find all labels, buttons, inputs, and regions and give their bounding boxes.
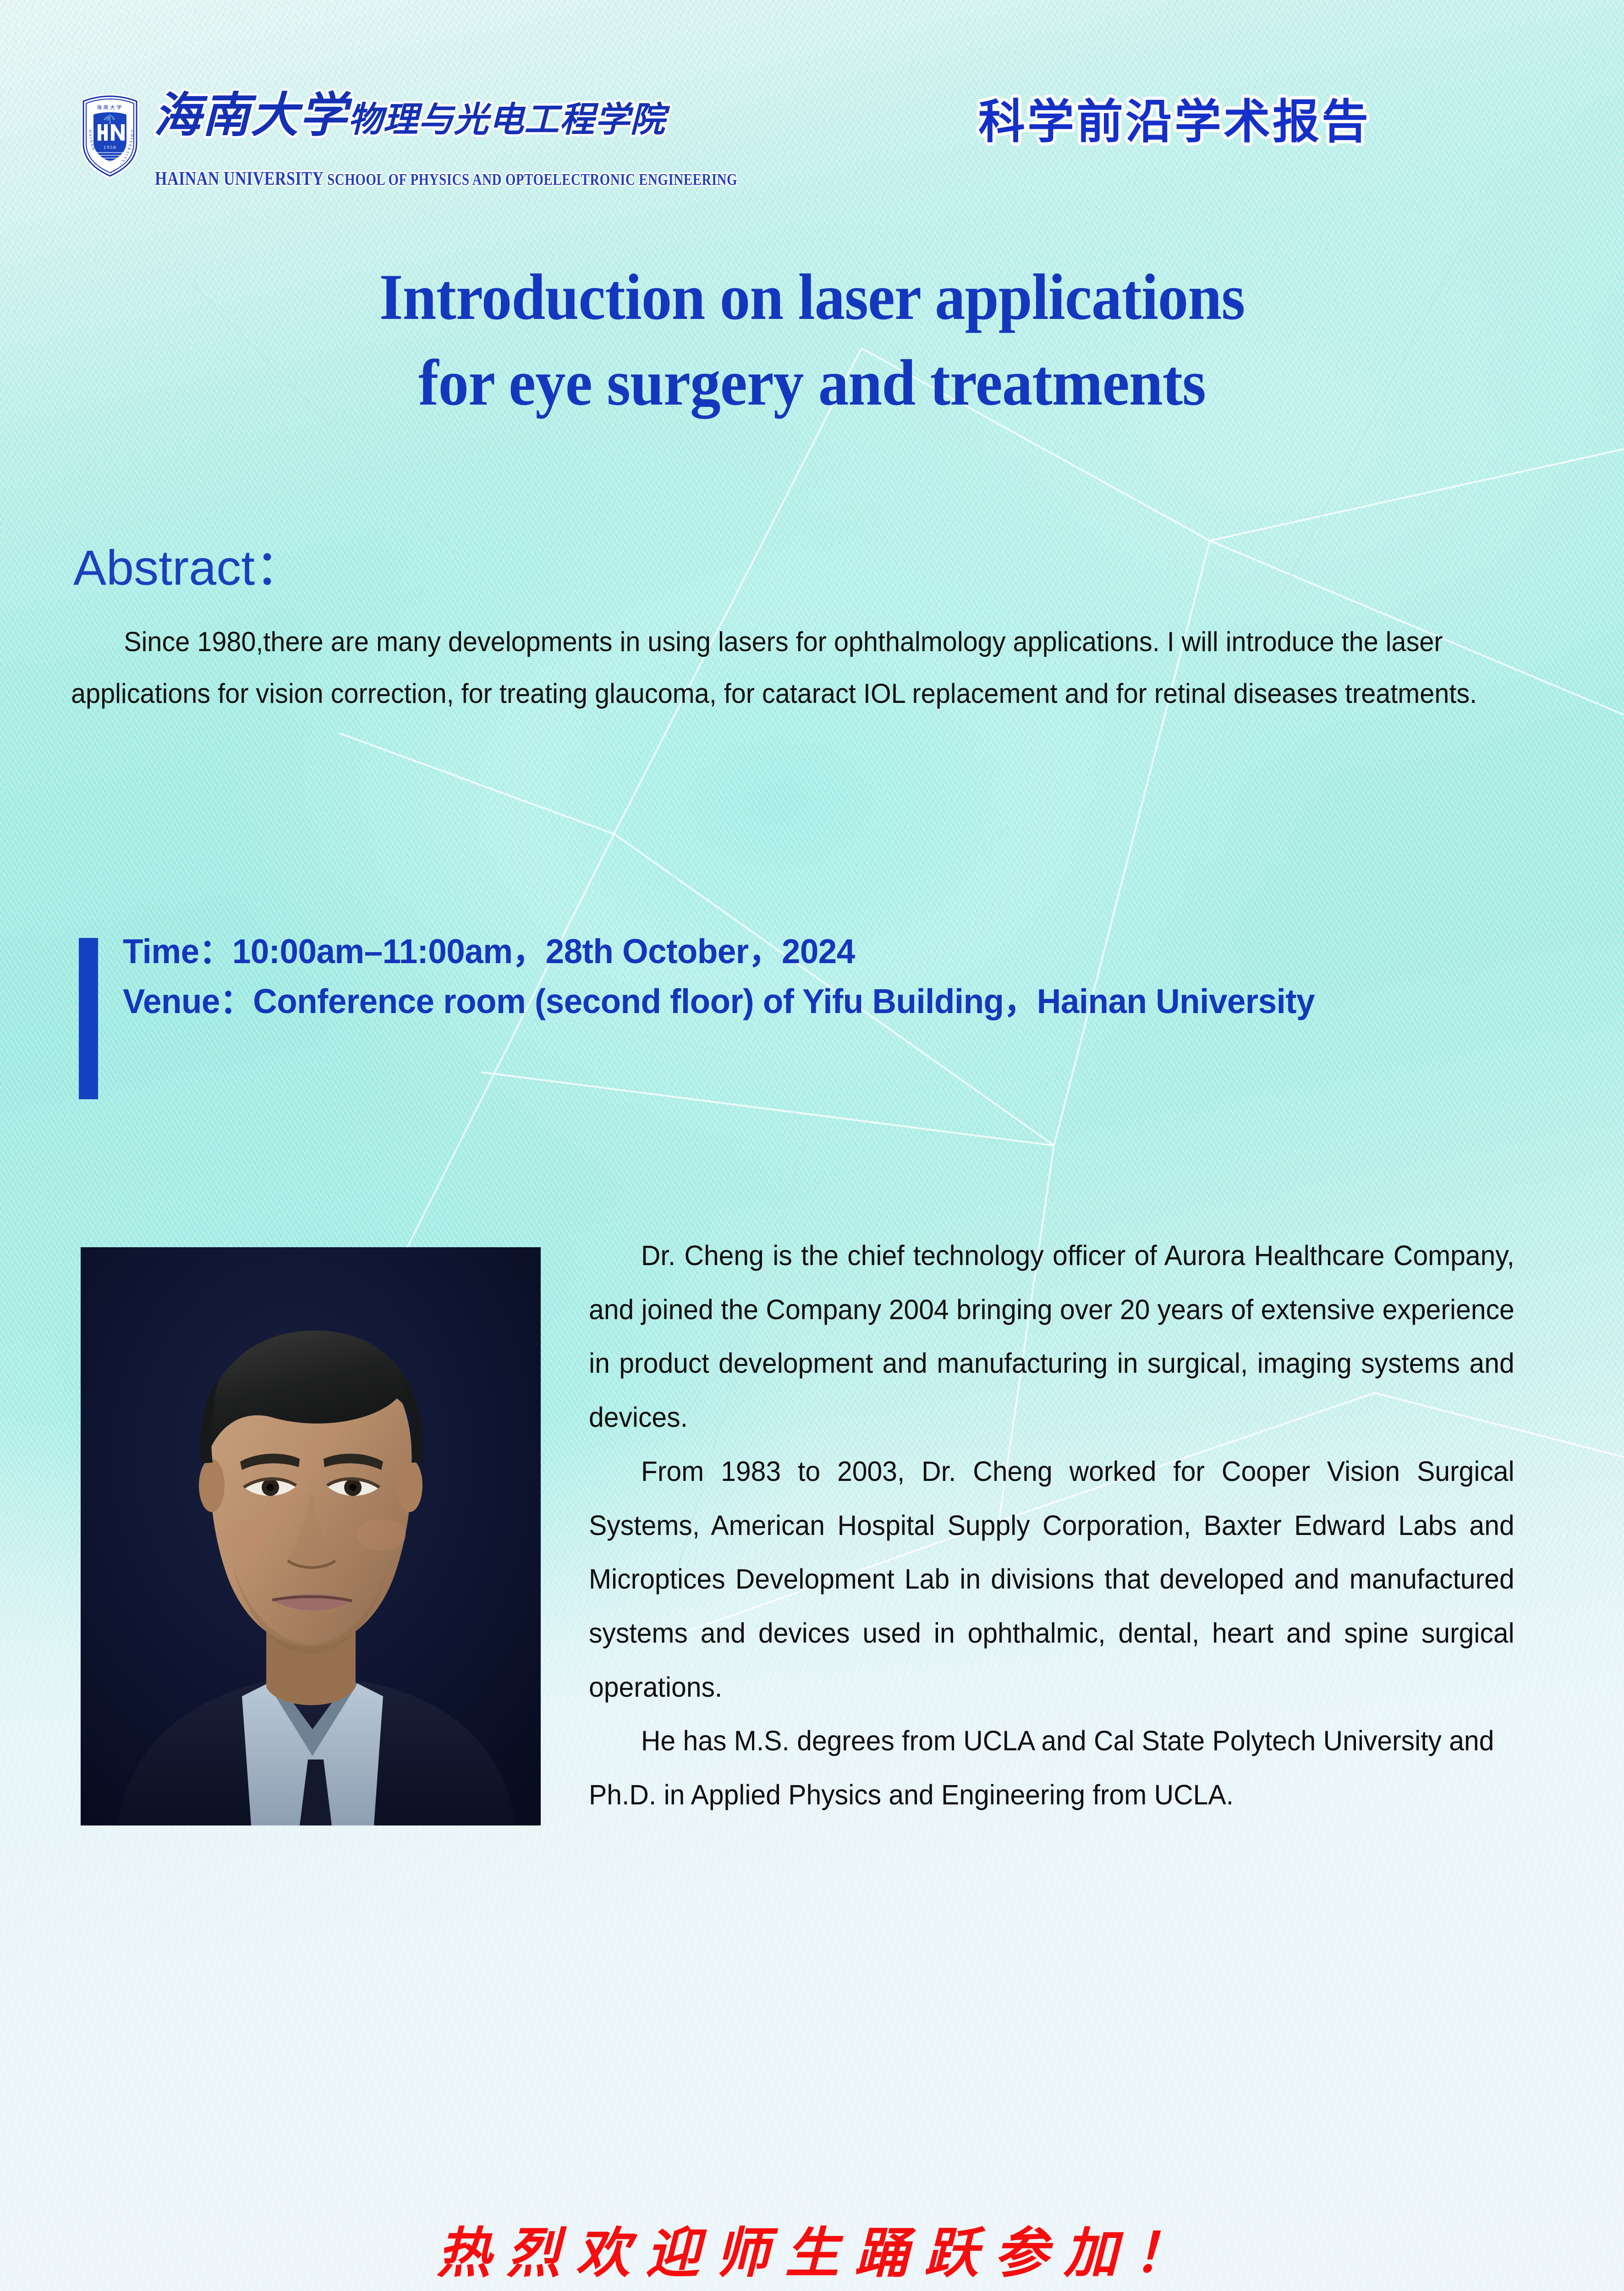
speaker-bio: Dr. Cheng is the chief technology office…	[589, 1229, 1514, 1822]
brand-school-cn: 物理与光电工程学院	[348, 101, 665, 139]
bio-paragraph-text: Dr. Cheng is the chief technology office…	[589, 1240, 1514, 1433]
event-venue-row: Venue：Conference room (second floor) of …	[123, 976, 1505, 1026]
series-tag-cn: 科学前沿学术报告	[978, 99, 1371, 146]
bio-paragraph: From 1983 to 2003, Dr. Cheng worked for …	[589, 1445, 1514, 1715]
time-label: Time：	[123, 932, 232, 970]
page-title: Introduction on laser applications for e…	[57, 254, 1567, 426]
event-time-row: Time：10:00am–11:00am，28th October，2024	[123, 926, 1505, 976]
brand-chinese-name: 海南大学物理与光电工程学院	[154, 92, 665, 140]
details-accent-bar	[79, 938, 98, 1099]
bio-paragraph-text: He has M.S. degrees from UCLA and Cal St…	[589, 1725, 1494, 1810]
venue-label: Venue：	[123, 982, 253, 1020]
speaker-portrait-photo	[81, 1247, 541, 1825]
svg-text:1958: 1958	[104, 145, 116, 150]
bio-paragraph: Dr. Cheng is the chief technology office…	[589, 1229, 1514, 1445]
abstract-label: Abstract：	[73, 543, 304, 592]
bio-paragraph: He has M.S. degrees from UCLA and Cal St…	[589, 1714, 1514, 1822]
time-value: 10:00am–11:00am，28th October，2024	[232, 932, 855, 970]
venue-value: Conference room (second floor) of Yifu B…	[253, 982, 1315, 1020]
page-title-line2: for eye surgery and treatments	[57, 340, 1567, 426]
page-title-line1: Introduction on laser applications	[57, 254, 1567, 340]
poster-canvas: 1958 海南大学 HAINAN UNIVERSITY 海南大学物理与光电工程学…	[0, 0, 1624, 2291]
abstract-text: Since 1980,there are many developments i…	[71, 626, 1477, 709]
brand-university-cn: 海南大学	[154, 89, 348, 142]
bio-paragraph-text: From 1983 to 2003, Dr. Cheng worked for …	[589, 1456, 1514, 1703]
event-details: Time：10:00am–11:00am，28th October，2024 V…	[123, 926, 1505, 1026]
brand-en-university: HAINAN UNIVERSITY	[155, 168, 324, 189]
poster-header: 1958 海南大学 HAINAN UNIVERSITY 海南大学物理与光电工程学…	[78, 89, 1544, 186]
brand-en-school: SCHOOL OF PHYSICS AND OPTOELECTRONIC ENG…	[327, 170, 737, 189]
svg-text:海南大学: 海南大学	[97, 104, 123, 110]
brand-english-name: HAINAN UNIVERSITY SCHOOL OF PHYSICS AND …	[155, 168, 737, 190]
abstract-body: Since 1980,there are many developments i…	[71, 616, 1487, 720]
welcome-message-cn: 热烈欢迎师生踊跃参加！	[0, 2227, 1624, 2281]
hainan-university-shield-icon: 1958 海南大学 HAINAN UNIVERSITY	[78, 94, 142, 179]
